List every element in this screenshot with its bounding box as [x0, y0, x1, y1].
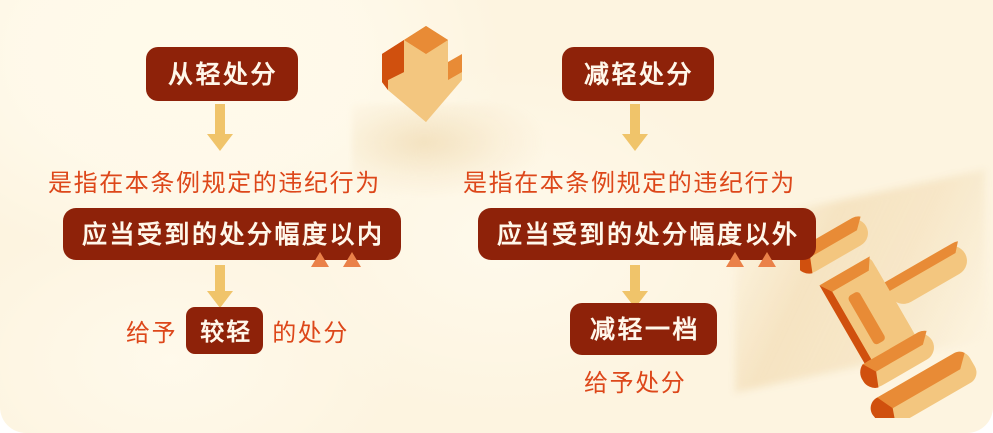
- flow-arrow-congqing-1: [205, 104, 235, 154]
- infographic-canvas: 从轻处分 是指在本条例规定的违纪行为 应当受到的处分幅度以内 给予 较轻 的处分…: [0, 0, 993, 433]
- result-badge-congqing[interactable]: 较轻: [186, 307, 263, 354]
- result-note-jianqing: 给予处分: [584, 363, 686, 398]
- result-line-congqing: 给予 较轻 的处分: [126, 307, 349, 354]
- column-description-jianqing: 是指在本条例规定的违纪行为: [463, 163, 796, 198]
- emphasis-carets-jianqing: [726, 252, 776, 267]
- column-description-congqing: 是指在本条例规定的违纪行为: [48, 163, 381, 198]
- emphasis-carets-congqing: [311, 252, 361, 267]
- caret-icon: [311, 252, 329, 267]
- gavel-3d-icon: [800, 196, 985, 418]
- result-prefix-congqing: 给予: [126, 313, 177, 348]
- result-badge-jianqing[interactable]: 减轻一档: [570, 303, 717, 355]
- caret-icon: [726, 252, 744, 267]
- caret-icon: [758, 252, 776, 267]
- result-suffix-congqing: 的处分: [272, 313, 349, 348]
- down-arrow-3d-icon: [374, 18, 470, 130]
- flow-arrow-jianqing-1: [620, 104, 650, 154]
- caret-icon: [343, 252, 361, 267]
- column-title-badge-congqing[interactable]: 从轻处分: [146, 47, 298, 101]
- flow-arrow-congqing-2: [205, 265, 235, 311]
- column-title-badge-jianqing[interactable]: 减轻处分: [562, 47, 714, 101]
